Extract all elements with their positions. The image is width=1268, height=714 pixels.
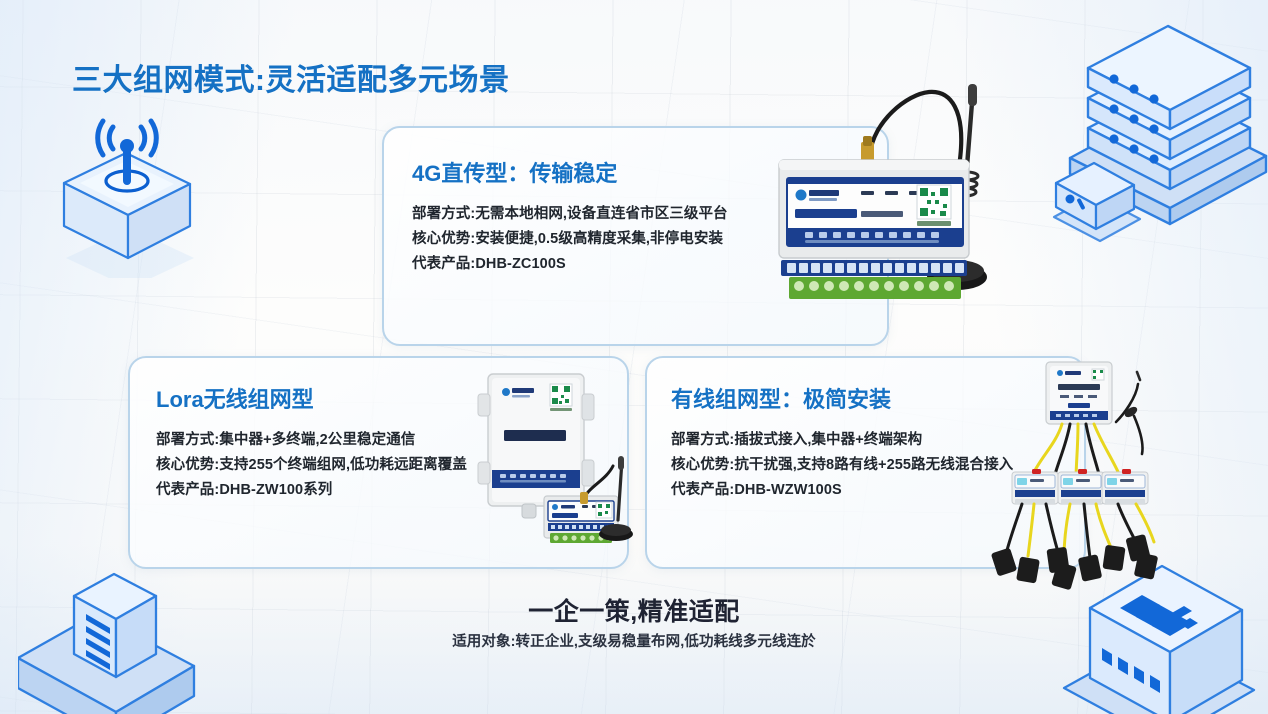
card-wired-text: 有线组网型：极简安装 部署方式:插拔式接入,集中器+终端架构 核心优势:抗干扰强… bbox=[671, 382, 1013, 503]
device-photo-zw100 bbox=[466, 368, 636, 548]
card-lora-line-1: 部署方式:集中器+多终端,2公里稳定通信 bbox=[156, 428, 467, 453]
card-lora-text: Lora无线组网型 部署方式:集中器+多终端,2公里稳定通信 核心优势:支持25… bbox=[156, 382, 467, 503]
page-title: 三大组网模式:灵活适配多元场景 bbox=[72, 55, 510, 99]
footer-headline: 一企一策,精准适配 bbox=[0, 592, 1268, 628]
slide-canvas: 三大组网模式:灵活适配多元场景 4G直传型：传输稳定 部署方式:无需本地相网,设… bbox=[0, 0, 1268, 714]
card-wired-title: 有线组网型：极简安装 bbox=[671, 382, 1013, 414]
card-wired-line-2: 核心优势:抗干扰强,支持8路有线+255路无线混合接入 bbox=[671, 453, 1013, 478]
card-4g-line-2: 核心优势:安装便捷,0.5级高精度采集,非停电安装 bbox=[412, 227, 728, 252]
card-wired-line-1: 部署方式:插拔式接入,集中器+终端架构 bbox=[671, 428, 1013, 453]
network-switch-icon bbox=[1050, 155, 1170, 265]
card-4g-title: 4G直传型：传输稳定 bbox=[412, 156, 728, 188]
card-4g-text: 4G直传型：传输稳定 部署方式:无需本地相网,设备直连省市区三级平台 核心优势:… bbox=[412, 156, 728, 277]
device-photo-zc100s bbox=[757, 78, 1022, 310]
device-photo-wzw100s bbox=[988, 358, 1174, 594]
card-4g-line-1: 部署方式:无需本地相网,设备直连省市区三级平台 bbox=[412, 202, 728, 227]
card-lora-line-2: 核心优势:支持255个终端组网,低功耗远距离覆盖 bbox=[156, 453, 467, 478]
footer-subline: 适用对象:转正企业,支级易稳量布网,低功耗线多元线连於 bbox=[0, 630, 1268, 651]
card-lora-title: Lora无线组网型 bbox=[156, 382, 467, 414]
card-4g-line-3: 代表产品:DHB-ZC100S bbox=[412, 252, 728, 277]
card-lora-line-3: 代表产品:DHB-ZW100系列 bbox=[156, 478, 467, 503]
antenna-box-icon bbox=[44, 108, 214, 278]
card-wired-line-3: 代表产品:DHB-WZW100S bbox=[671, 478, 1013, 503]
